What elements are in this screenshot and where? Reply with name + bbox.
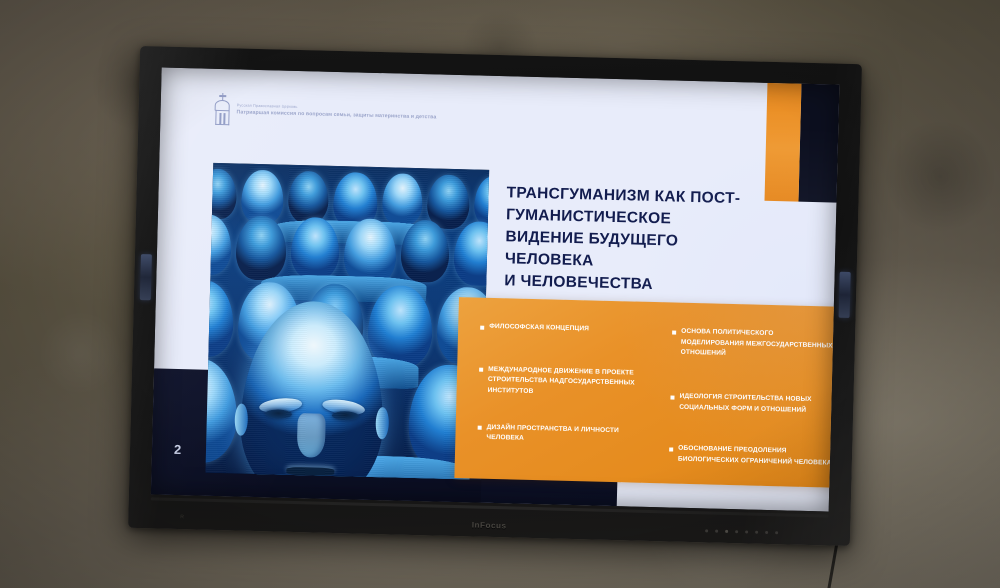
scene-vignette bbox=[0, 0, 1000, 588]
room-scene: InFocus R 2 bbox=[0, 0, 1000, 588]
